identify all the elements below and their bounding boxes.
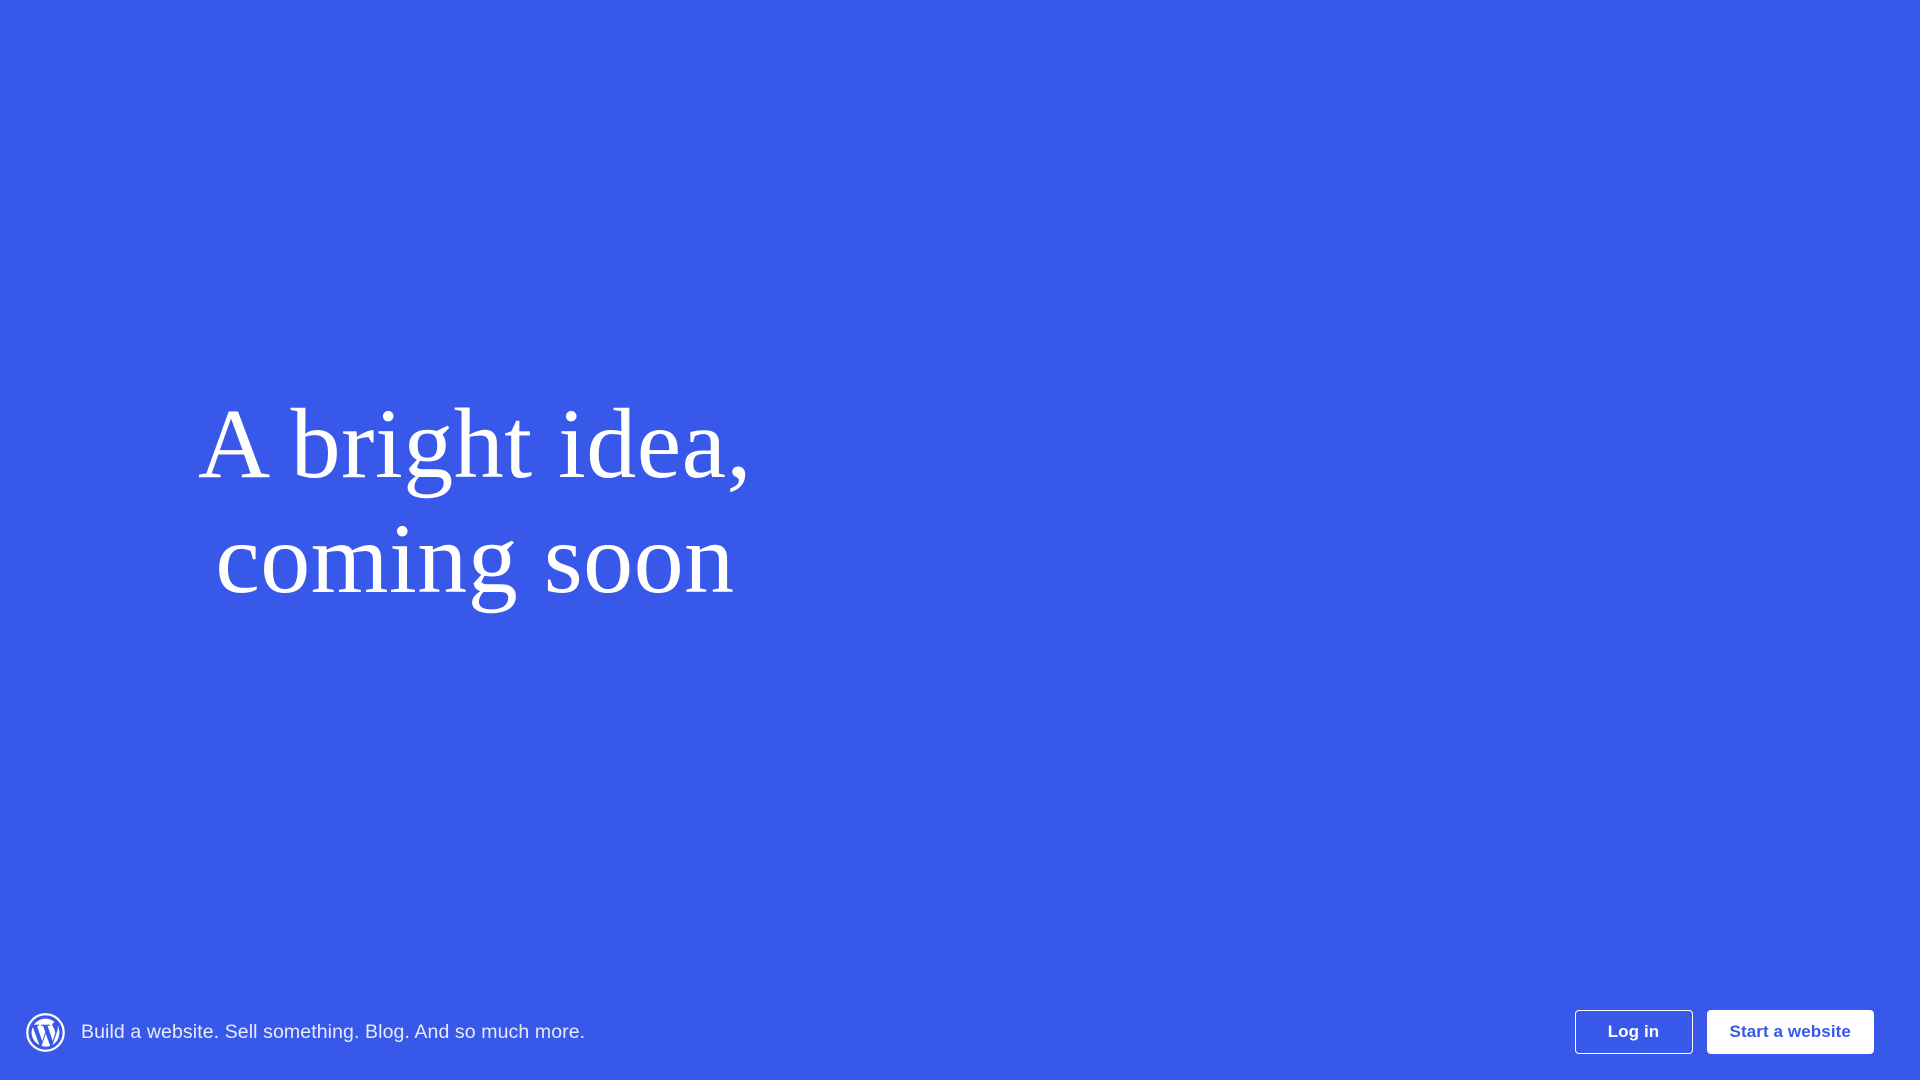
login-button[interactable]: Log in (1575, 1010, 1693, 1054)
wordpress-logo-link[interactable] (26, 1013, 65, 1052)
wordpress-logo-icon (26, 1013, 65, 1052)
footer-actions: Log in Start a website (1575, 1010, 1875, 1054)
start-a-website-button[interactable]: Start a website (1707, 1010, 1875, 1054)
page-title: A bright idea, coming soon (125, 386, 825, 616)
footer-bar: Build a website. Sell something. Blog. A… (0, 984, 1920, 1080)
footer-tagline: Build a website. Sell something. Blog. A… (81, 1020, 585, 1044)
hero-section: A bright idea, coming soon (0, 0, 940, 1080)
hero-content: A bright idea, coming soon (125, 386, 825, 616)
coming-soon-page: A bright idea, coming soon Build a websi… (0, 0, 1920, 1080)
footer-branding: Build a website. Sell something. Blog. A… (26, 1013, 585, 1052)
